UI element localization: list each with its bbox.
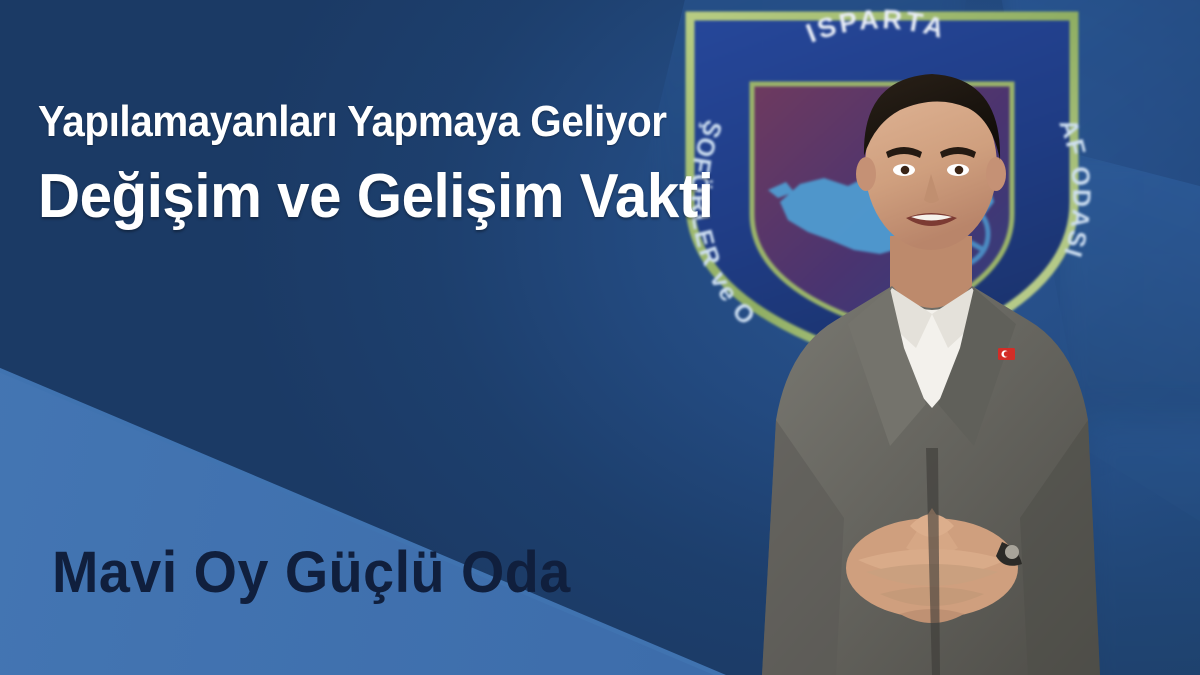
- headline-line-1: Yapılamayanları Yapmaya Geliyor: [38, 96, 645, 148]
- turkish-flag-pin: [998, 348, 1015, 360]
- campaign-slogan: Mavi Oy Güçlü Oda: [52, 540, 571, 606]
- ear-left: [856, 157, 876, 191]
- ear-right: [986, 157, 1006, 191]
- candidate-portrait: [740, 48, 1140, 675]
- headline-line-2: Değişim ve Gelişim Vakti: [38, 160, 658, 234]
- campaign-poster: ISPARTA ŞOFÖRLER ve O AF ODASI: [0, 0, 1200, 675]
- headline-block: Yapılamayanları Yapmaya Geliyor Değişim …: [38, 96, 698, 234]
